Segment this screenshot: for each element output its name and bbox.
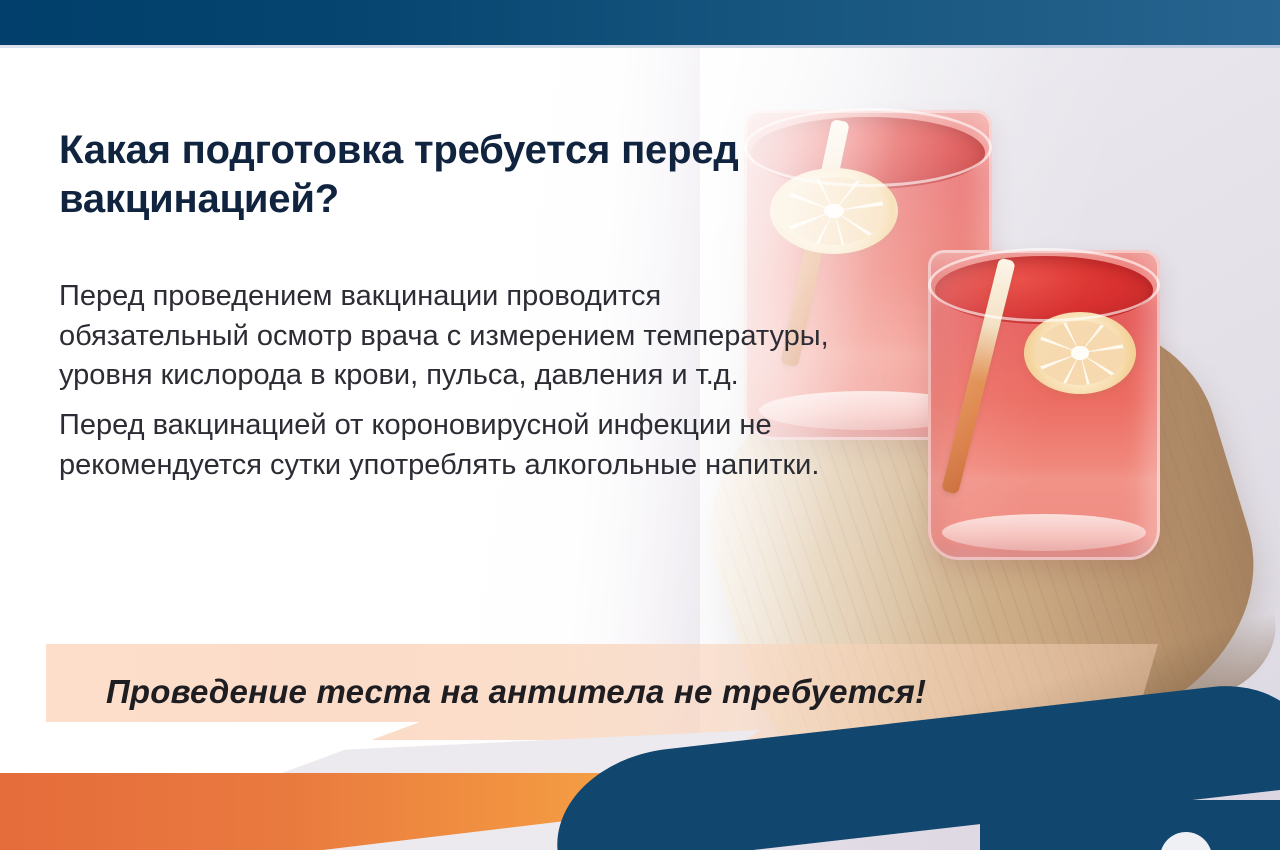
lemon-core-left <box>824 204 844 218</box>
body-paragraph-2: Перед вакцинацией от короновирусной инфе… <box>59 406 829 485</box>
glass-right <box>928 250 1160 560</box>
glass-left-rim <box>744 108 992 187</box>
infographic-slide: Какая подготовка требуется перед вакцина… <box>0 0 1280 850</box>
callout-text: Проведение теста на антитела не требуетс… <box>46 673 926 711</box>
glass-right-base <box>942 514 1146 551</box>
body-copy: Перед проведением вакцинации проводится … <box>59 277 829 486</box>
page-title: Какая подготовка требуется перед вакцина… <box>59 126 759 224</box>
top-banner-edge <box>0 45 1280 48</box>
decor-navy-block <box>980 800 1280 850</box>
lemon-slice-right <box>1024 312 1136 394</box>
lemon-core-right <box>1071 346 1089 359</box>
body-paragraph-1: Перед проведением вакцинации проводится … <box>59 277 829 396</box>
top-banner <box>0 0 1280 45</box>
glass-right-rim <box>928 248 1160 322</box>
